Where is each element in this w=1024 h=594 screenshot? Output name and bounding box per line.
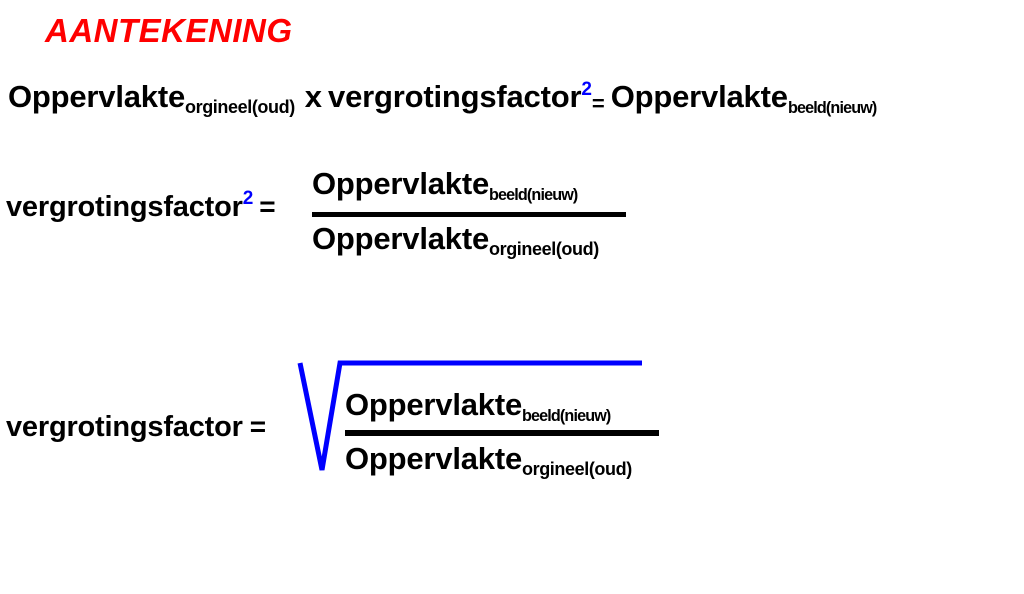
formula2-denominator: Oppervlakteorgineel(oud) <box>312 221 599 257</box>
formula1-multiply-operator: x <box>295 79 328 114</box>
formula2-denominator-base: Oppervlakte <box>312 221 489 256</box>
formula1-term1-subscript: orgineel(oud) <box>185 97 295 117</box>
formula3-denominator-subscript: orgineel(oud) <box>522 459 632 479</box>
formula-line-2-left: vergrotingsfactor2= <box>6 191 276 224</box>
formula3-lhs-base: vergrotingsfactor <box>6 411 243 443</box>
page-title: AANTEKENING <box>45 12 293 50</box>
formula1-term3-base: Oppervlakte <box>605 79 788 114</box>
formula3-numerator: Oppervlaktebeeld(nieuw) <box>345 387 615 423</box>
formula2-fraction-bar <box>312 212 626 217</box>
formula1-equals-sign: = <box>592 91 605 116</box>
formula3-denominator: Oppervlakteorgineel(oud) <box>345 441 632 477</box>
formula3-equals-sign: = <box>243 411 266 442</box>
formula2-numerator-base: Oppervlakte <box>312 166 489 201</box>
formula-line-3-left: vergrotingsfactor= <box>6 411 266 444</box>
formula3-numerator-subscript: beeld(nieuw) <box>522 406 610 426</box>
formula1-term3-subscript: beeld(nieuw) <box>788 98 876 118</box>
formula2-equals-sign: = <box>253 191 275 222</box>
formula2-numerator: Oppervlaktebeeld(nieuw) <box>312 166 582 202</box>
formula3-numerator-base: Oppervlakte <box>345 387 522 422</box>
slide-canvas: AANTEKENING Oppervlakteorgineel(oud)xver… <box>0 0 1024 594</box>
formula2-lhs-exponent: 2 <box>243 188 254 209</box>
formula1-term1-base: Oppervlakte <box>8 79 185 114</box>
formula-line-1: Oppervlakteorgineel(oud)xvergrotingsfact… <box>8 79 881 115</box>
formula1-term2-base: vergrotingsfactor <box>328 79 581 114</box>
formula2-numerator-subscript: beeld(nieuw) <box>489 185 577 205</box>
formula3-denominator-base: Oppervlakte <box>345 441 522 476</box>
formula1-term2-exponent: 2 <box>581 79 592 100</box>
formula2-lhs-base: vergrotingsfactor <box>6 191 243 223</box>
formula2-denominator-subscript: orgineel(oud) <box>489 239 599 259</box>
formula3-fraction-bar <box>345 430 659 436</box>
